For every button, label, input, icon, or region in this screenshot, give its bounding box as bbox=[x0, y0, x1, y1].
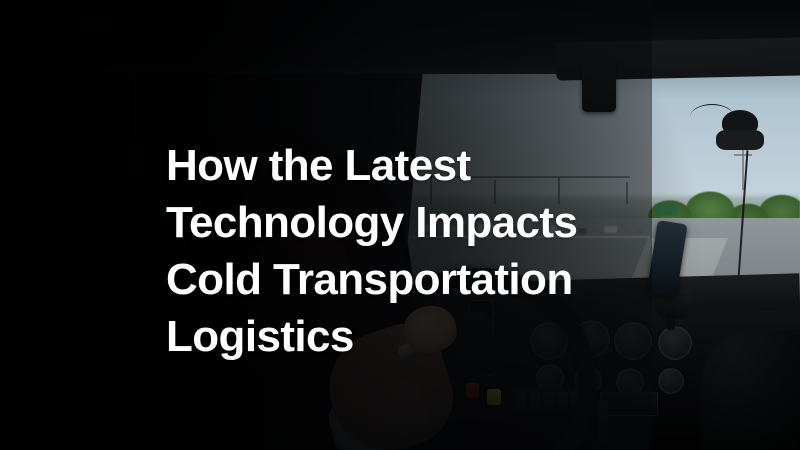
passenger-seat bbox=[700, 330, 800, 450]
radio-unit bbox=[600, 392, 658, 416]
gear-stick bbox=[598, 400, 608, 444]
rear-view-mirror bbox=[582, 60, 616, 112]
page-title: How the Latest Technology Impacts Cold T… bbox=[166, 137, 686, 365]
power-pole-crossarm bbox=[734, 154, 752, 156]
hero-banner: How the Latest Technology Impacts Cold T… bbox=[0, 0, 800, 450]
dashcam-body bbox=[716, 130, 764, 150]
